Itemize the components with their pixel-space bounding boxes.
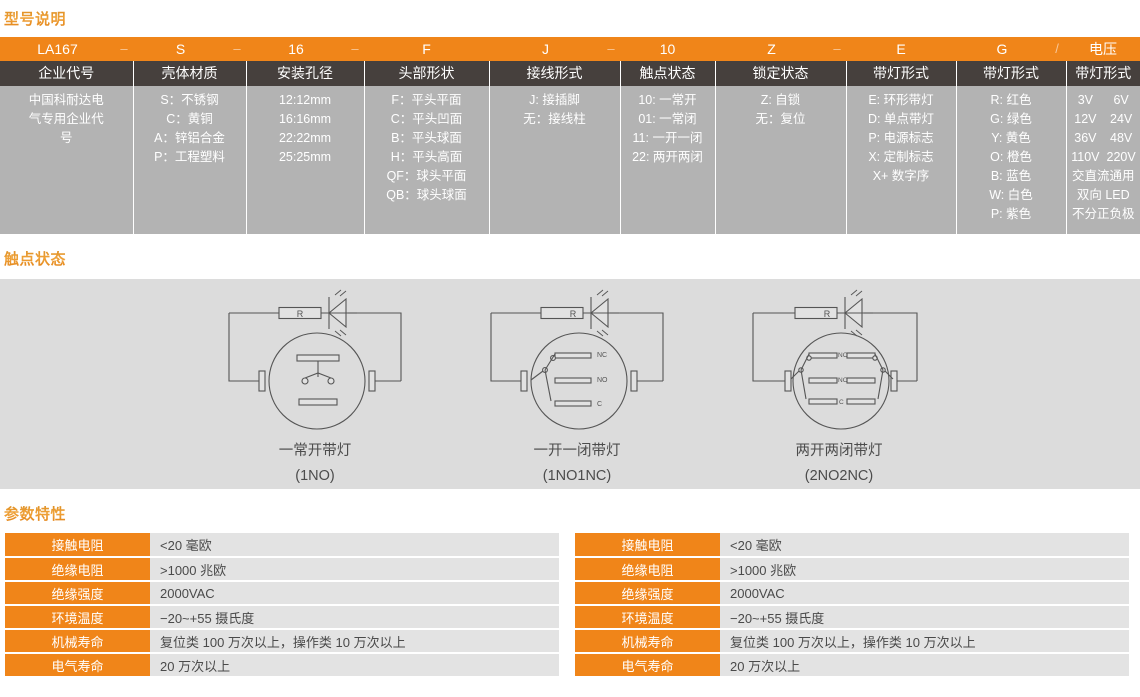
terminal-label-no: NO xyxy=(838,377,848,384)
body-item: C：黄铜 xyxy=(137,110,243,129)
param-label: 绝缘电阻 xyxy=(575,557,720,581)
header-cell-4: 接线形式 xyxy=(489,61,620,86)
body-item: J: 接插脚 xyxy=(493,91,617,110)
voltage-note: 双向 LED xyxy=(1070,186,1138,205)
param-label: 绝缘强度 xyxy=(5,581,150,605)
body-item: W: 白色 xyxy=(960,186,1063,205)
header-cell-1: 壳体材质 xyxy=(133,61,246,86)
voltage-note: 交直流通用 xyxy=(1070,167,1138,186)
param-value: 复位类 100 万次以上，操作类 10 万次以上 xyxy=(720,629,1129,653)
body-item: C：平头凹面 xyxy=(368,110,486,129)
body-cell-lockstate: Z: 自锁 无：复位 xyxy=(715,86,846,234)
body-item: X+ 数字序 xyxy=(850,167,953,186)
body-item: X: 定制标志 xyxy=(850,148,953,167)
body-item: 无：接线柱 xyxy=(493,110,617,129)
code-cell-15: 电压 xyxy=(1066,37,1140,61)
terminal-label-c: C xyxy=(597,401,602,408)
header-cell-2: 安装孔径 xyxy=(246,61,364,86)
body-item: R: 红色 xyxy=(960,91,1063,110)
voltage-item: 36V xyxy=(1070,129,1102,148)
code-sep-11: – xyxy=(828,37,846,61)
header-cell-7: 带灯形式 xyxy=(846,61,956,86)
header-cell-5: 触点状态 xyxy=(620,61,715,86)
body-item: F：平头平面 xyxy=(368,91,486,110)
terminal-label-c: C xyxy=(839,399,844,406)
contact-section-header: 触点状态 xyxy=(0,234,1140,279)
header-cell-0: 企业代号 xyxy=(0,61,133,86)
body-item: 无：复位 xyxy=(719,110,843,129)
table-row: 绝缘强度 2000VAC xyxy=(575,581,1129,605)
header-cell-6: 锁定状态 xyxy=(715,61,846,86)
table-row: 环境温度 −20~+55 摄氏度 xyxy=(575,605,1129,629)
body-item: 22:22mm xyxy=(250,129,361,148)
param-value: 20 万次以上 xyxy=(720,653,1129,677)
body-item: P: 紫色 xyxy=(960,205,1063,224)
table-row: 机械寿命 复位类 100 万次以上，操作类 10 万次以上 xyxy=(575,629,1129,653)
diagram-caption-title: 一常开带灯 xyxy=(205,441,425,462)
param-label: 接触电阻 xyxy=(5,533,150,557)
body-cell-holesize: 12:12mm 16:16mm 22:22mm 25:25mm xyxy=(246,86,364,234)
table-row: 电气寿命 20 万次以上 xyxy=(5,653,559,677)
body-item: O: 橙色 xyxy=(960,148,1063,167)
diagram-caption-subtitle: (1NO) xyxy=(205,466,425,487)
param-value: >1000 兆欧 xyxy=(150,557,559,581)
diagram-caption-title: 一开一闭带灯 xyxy=(467,441,687,462)
code-cell-0: LA167 xyxy=(0,37,115,61)
section-title-model: 型号说明 xyxy=(4,8,66,29)
body-item: 25:25mm xyxy=(250,148,361,167)
circuit-schematic-2no2nc: R NC NO C xyxy=(739,287,939,437)
body-cell-headshape: F：平头平面 C：平头凹面 B：平头球面 H：平头高面 QF：球头平面 QB：球… xyxy=(364,86,489,234)
body-item: B: 蓝色 xyxy=(960,167,1063,186)
spec-sheet-page: 型号说明 LA167 – S – 16 – F J – 10 Z xyxy=(0,0,1140,697)
body-item: A：锌铝合金 xyxy=(137,129,243,148)
table-row: 接触电阻 <20 毫欧 xyxy=(5,533,559,557)
param-label: 机械寿命 xyxy=(575,629,720,653)
code-sep-3: – xyxy=(228,37,246,61)
code-sep-1: – xyxy=(115,37,133,61)
diagram-2no2nc: R NC NO C 两开两闭带灯 (2NO2NC) xyxy=(729,287,949,487)
param-value: <20 毫欧 xyxy=(150,533,559,557)
table-row: 电气寿命 20 万次以上 xyxy=(575,653,1129,677)
body-item: P: 电源标志 xyxy=(850,129,953,148)
voltage-item: 12V xyxy=(1070,110,1102,129)
header-cell-9: 带灯形式 xyxy=(1066,61,1140,86)
body-item: E: 环形带灯 xyxy=(850,91,953,110)
body-item: P：工程塑料 xyxy=(137,148,243,167)
code-cell-2: S xyxy=(133,37,228,61)
terminal-label-nc: NC xyxy=(597,352,607,359)
parameter-tables-wrap: 接触电阻 <20 毫欧 绝缘电阻 >1000 兆欧 绝缘强度 2000VAC 环… xyxy=(0,533,1140,678)
param-value: <20 毫欧 xyxy=(720,533,1129,557)
code-cell-9: 10 xyxy=(620,37,715,61)
body-item: Y: 黄色 xyxy=(960,129,1063,148)
param-value: 复位类 100 万次以上，操作类 10 万次以上 xyxy=(150,629,559,653)
param-label: 电气寿命 xyxy=(575,653,720,677)
header-cell-3: 头部形状 xyxy=(364,61,489,86)
param-value: −20~+55 摄氏度 xyxy=(150,605,559,629)
param-value: 2000VAC xyxy=(720,581,1129,605)
voltage-item: 220V xyxy=(1105,148,1137,167)
param-label: 环境温度 xyxy=(5,605,150,629)
body-item: 22: 两开两闭 xyxy=(624,148,712,167)
body-item: 11: 一开一闭 xyxy=(624,129,712,148)
param-value: 20 万次以上 xyxy=(150,653,559,677)
params-section-header: 参数特性 xyxy=(0,489,1140,533)
body-item: H：平头高面 xyxy=(368,148,486,167)
body-item: B：平头球面 xyxy=(368,129,486,148)
table-row: 绝缘电阻 >1000 兆欧 xyxy=(575,557,1129,581)
voltage-note: 不分正负极 xyxy=(1070,205,1138,224)
body-item: G: 绿色 xyxy=(960,110,1063,129)
resistor-label: R xyxy=(297,309,304,319)
body-item: D: 单点带灯 xyxy=(850,110,953,129)
model-section-header: 型号说明 xyxy=(0,0,1140,37)
code-cell-4: 16 xyxy=(246,37,346,61)
body-item: S：不锈钢 xyxy=(137,91,243,110)
body-item: 01: 一常闭 xyxy=(624,110,712,129)
section-title-contact: 触点状态 xyxy=(4,248,66,269)
param-label: 接触电阻 xyxy=(575,533,720,557)
body-cell-lamptype: E: 环形带灯 D: 单点带灯 P: 电源标志 X: 定制标志 X+ 数字序 xyxy=(846,86,956,234)
model-code-row: LA167 – S – 16 – F J – 10 Z – E G / 电压 xyxy=(0,37,1140,61)
table-row: 环境温度 −20~+55 摄氏度 xyxy=(5,605,559,629)
body-cell-enterprise: 中国科耐达电 气专用企业代 号 xyxy=(0,86,133,234)
terminal-label-nc: NC xyxy=(838,352,848,359)
body-cell-contactstate: 10: 一常开 01: 一常闭 11: 一开一闭 22: 两开两闭 xyxy=(620,86,715,234)
code-sep-14: / xyxy=(1048,37,1066,61)
param-label: 环境温度 xyxy=(575,605,720,629)
body-item: 气专用企业代 xyxy=(3,110,130,129)
diagram-caption-title: 两开两闭带灯 xyxy=(729,441,949,462)
model-body-row: 中国科耐达电 气专用企业代 号 S：不锈钢 C：黄铜 A：锌铝合金 P：工程塑料… xyxy=(0,86,1140,234)
model-number-table: LA167 – S – 16 – F J – 10 Z – E G / 电压 企… xyxy=(0,37,1140,234)
voltage-item: 24V xyxy=(1105,110,1137,129)
body-cell-material: S：不锈钢 C：黄铜 A：锌铝合金 P：工程塑料 xyxy=(133,86,246,234)
param-value: >1000 兆欧 xyxy=(720,557,1129,581)
body-cell-voltage: 3V 6V 12V 24V 36V 48V 110V 220V 交直流通用 双向… xyxy=(1066,86,1140,234)
table-row: 绝缘电阻 >1000 兆欧 xyxy=(5,557,559,581)
diagram-1no: R 一常开带灯 (1NO) xyxy=(205,287,425,487)
body-item: QB：球头球面 xyxy=(368,186,486,205)
voltage-item: 48V xyxy=(1105,129,1137,148)
parameter-table-left: 接触电阻 <20 毫欧 绝缘电阻 >1000 兆欧 绝缘强度 2000VAC 环… xyxy=(5,533,559,678)
code-cell-10: Z xyxy=(715,37,828,61)
body-item: Z: 自锁 xyxy=(719,91,843,110)
model-header-row: 企业代号 壳体材质 安装孔径 头部形状 接线形式 触点状态 锁定状态 带灯形式 … xyxy=(0,61,1140,86)
voltage-item: 6V xyxy=(1105,91,1137,110)
table-row: 接触电阻 <20 毫欧 xyxy=(575,533,1129,557)
diagram-caption-subtitle: (1NO1NC) xyxy=(467,466,687,487)
header-cell-8: 带灯形式 xyxy=(956,61,1066,86)
param-label: 绝缘强度 xyxy=(575,581,720,605)
body-item: 中国科耐达电 xyxy=(3,91,130,110)
body-item: 号 xyxy=(3,129,130,148)
parameter-table-right: 接触电阻 <20 毫欧 绝缘电阻 >1000 兆欧 绝缘强度 2000VAC 环… xyxy=(575,533,1129,678)
param-label: 绝缘电阻 xyxy=(5,557,150,581)
code-sep-5: – xyxy=(346,37,364,61)
code-sep-8: – xyxy=(602,37,620,61)
resistor-label: R xyxy=(570,309,577,319)
code-cell-13: G xyxy=(956,37,1048,61)
body-cell-lampcolor: R: 红色 G: 绿色 Y: 黄色 O: 橙色 B: 蓝色 W: 白色 P: 紫… xyxy=(956,86,1066,234)
diagram-caption-subtitle: (2NO2NC) xyxy=(729,466,949,487)
code-cell-6: F xyxy=(364,37,489,61)
param-label: 机械寿命 xyxy=(5,629,150,653)
circuit-schematic-1no: R xyxy=(215,287,415,437)
resistor-label: R xyxy=(824,309,831,319)
table-row: 绝缘强度 2000VAC xyxy=(5,581,559,605)
code-cell-12: E xyxy=(846,37,956,61)
body-cell-wiring: J: 接插脚 无：接线柱 xyxy=(489,86,620,234)
section-title-params: 参数特性 xyxy=(4,503,66,524)
param-value: −20~+55 摄氏度 xyxy=(720,605,1129,629)
param-value: 2000VAC xyxy=(150,581,559,605)
circuit-schematic-1no1nc: R NC NO C xyxy=(477,287,677,437)
voltage-item: 3V xyxy=(1070,91,1102,110)
diagram-1no1nc: R NC NO C 一开一闭带灯 (1NO1NC) xyxy=(467,287,687,487)
table-row: 机械寿命 复位类 100 万次以上，操作类 10 万次以上 xyxy=(5,629,559,653)
terminal-label-no: NO xyxy=(597,377,608,384)
body-item: 12:12mm xyxy=(250,91,361,110)
body-item: 10: 一常开 xyxy=(624,91,712,110)
contact-diagram-panel: R 一常开带灯 (1NO) xyxy=(0,279,1140,489)
body-item: QF：球头平面 xyxy=(368,167,486,186)
body-item: 16:16mm xyxy=(250,110,361,129)
code-cell-7: J xyxy=(489,37,602,61)
param-label: 电气寿命 xyxy=(5,653,150,677)
voltage-item: 110V xyxy=(1070,148,1102,167)
